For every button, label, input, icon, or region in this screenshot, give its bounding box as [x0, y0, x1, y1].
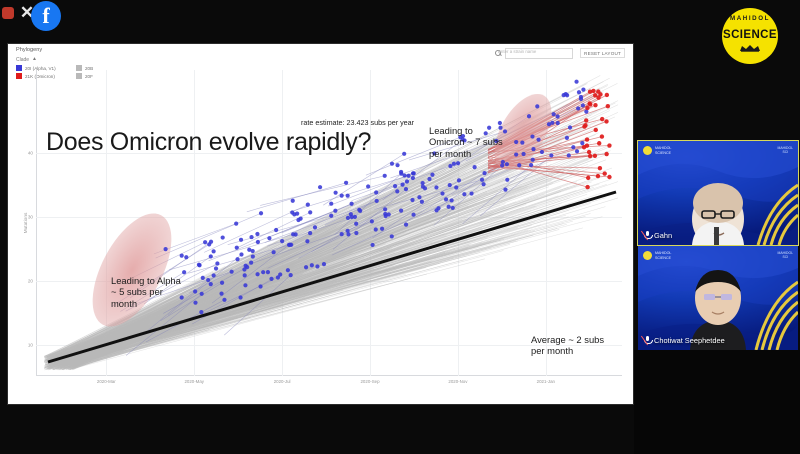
broadcast-badge: MAHIDOL SCIENCE: [643, 146, 671, 155]
participant-name: Gahn: [654, 231, 672, 240]
x-tick-label: 2020-Nov: [448, 379, 467, 384]
y-tick-label: 20: [28, 279, 33, 284]
x-tick-label: 2020-Jul: [274, 379, 291, 384]
participant-name-bar: Chotiwat Seephetdee: [642, 335, 729, 346]
participant-name: Chotiwat Seephetdee: [654, 336, 725, 345]
y-tick-label: 30: [28, 214, 33, 219]
x-tick-label: 2020-Sep: [360, 379, 379, 384]
phylogeny-scatter-plot[interactable]: Mutations 40 30 20 10 2020-Mar 2020-May …: [36, 70, 622, 376]
chevron-up-icon[interactable]: ▲: [32, 56, 37, 62]
rate-estimate-label: rate estimate: 23.423 subs per year: [301, 118, 414, 127]
participant-name-bar: Gahn: [642, 230, 676, 241]
badge-text: MAHIDOL SCIENCE: [655, 251, 671, 260]
screen-recording-frame: ✕ LIVE f MAHIDOL SCIENCE Phylogeny Clade…: [0, 0, 800, 454]
facebook-icon[interactable]: f: [31, 1, 61, 31]
corner-watermark: MAHIDOL SCI: [778, 251, 793, 260]
search-area[interactable]: Enter a strain name: [495, 48, 573, 58]
empty-video-area: [634, 350, 800, 454]
broadcast-badge: MAHIDOL SCIENCE: [643, 251, 671, 260]
average-callout: Average ~ 2 subs per month: [531, 334, 604, 357]
crown-icon: [739, 44, 761, 52]
mahidol-science-logo: MAHIDOL SCIENCE: [722, 8, 778, 64]
video-tile-chotiwat[interactable]: MAHIDOL SCIENCE MAHIDOL SCI Chotiwat See…: [638, 246, 798, 350]
page-title: Does Omicron evolve rapidly?: [46, 128, 371, 157]
corner-watermark: MAHIDOL SCI: [778, 146, 793, 155]
omicron-callout: Leading to Omicron ~ 7 subs per month: [429, 125, 503, 159]
nextstrain-phylogeny-panel: Phylogeny Clade ▲ 20I (Alpha, V1) 21K (O…: [8, 44, 633, 404]
mic-muted-icon: [644, 231, 651, 240]
search-input[interactable]: Enter a strain name: [505, 48, 573, 59]
plot-canvas[interactable]: [36, 70, 622, 376]
badge-logo-icon: [643, 251, 652, 260]
legend-title: Clade: [16, 57, 29, 63]
live-indicator-icon: [2, 7, 14, 19]
alpha-callout: Leading to Alpha ~ 5 subs per month: [111, 275, 181, 309]
badge-text: MAHIDOL SCIENCE: [655, 146, 671, 155]
x-tick-label: 2020-Mar: [97, 379, 116, 384]
video-tile-gahn[interactable]: MAHIDOL SCIENCE MAHIDOL SCI Gahn: [638, 141, 798, 245]
legend-swatch: [16, 65, 22, 71]
mic-muted-icon: [644, 336, 651, 345]
facebook-live-overlay[interactable]: ✕ LIVE f: [0, 0, 72, 34]
y-tick-label: 10: [28, 343, 33, 348]
badge-logo-icon: [643, 146, 652, 155]
logo-main-text: SCIENCE: [722, 29, 778, 41]
panel-title: Phylogeny: [16, 47, 42, 53]
search-placeholder: Enter a strain name: [498, 49, 536, 54]
x-tick-label: 2021-Jan: [537, 379, 555, 384]
y-tick-label: 40: [28, 150, 33, 155]
legend-swatch: [16, 73, 22, 79]
reset-layout-button[interactable]: RESET LAYOUT: [580, 48, 625, 58]
logo-arc-text: MAHIDOL: [722, 15, 778, 22]
x-tick-label: 2020-May: [184, 379, 204, 384]
